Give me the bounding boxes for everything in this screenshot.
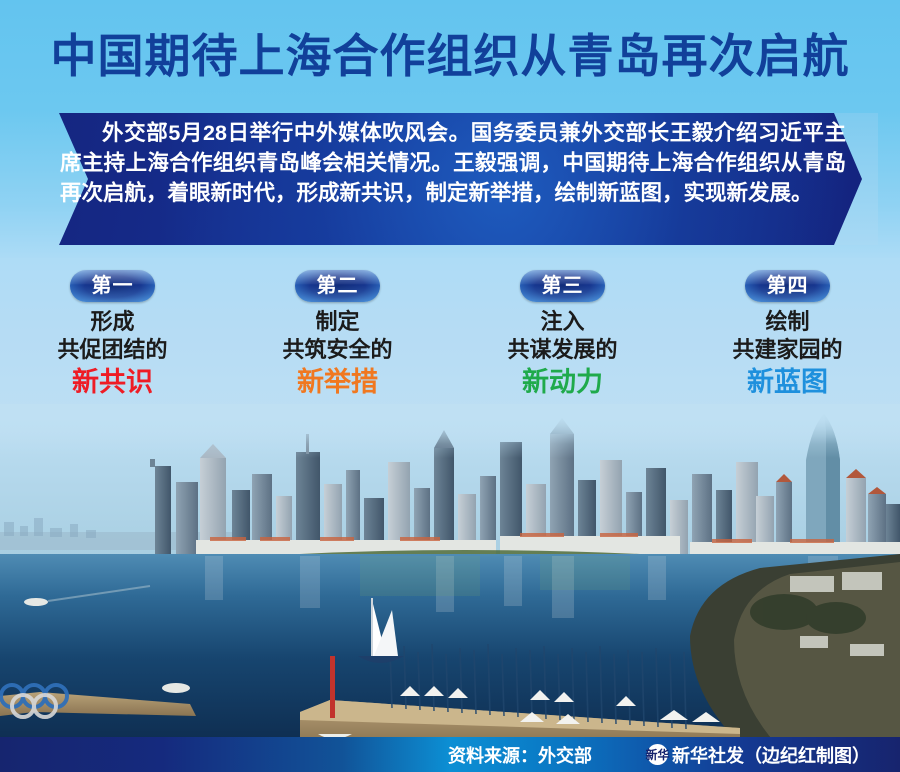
point-line2-4: 共建家园的 — [732, 336, 842, 364]
point-highlight-3: 新动力 — [522, 365, 603, 399]
key-points-row: 第一 形成 共促团结的 新共识 第二 制定 共筑安全的 新举措 第三 注入 共谋… — [0, 270, 900, 410]
point-line1-4: 绘制 — [765, 308, 809, 336]
key-point-4[interactable]: 第四 绘制 共建家园的 新蓝图 — [675, 270, 900, 410]
xinhua-logo-icon: 新华 — [647, 744, 668, 765]
point-line1-1: 形成 — [90, 308, 134, 336]
summary-banner-text: 外交部5月28日举行中外媒体吹风会。国务委员兼外交部长王毅介绍习近平主席主持上海… — [60, 118, 846, 242]
credit-group: 新华 新华社发（边纪红制图） — [647, 737, 870, 772]
summary-paragraph: 外交部5月28日举行中外媒体吹风会。国务委员兼外交部长王毅介绍习近平主席主持上海… — [60, 121, 846, 205]
source-label: 资料来源：外交部 — [448, 737, 592, 772]
point-line1-2: 制定 — [315, 308, 359, 336]
qingdao-skyline-photo — [0, 404, 900, 744]
point-line2-1: 共促团结的 — [57, 336, 167, 364]
page-title: 中国期待上海合作组织从青岛再次启航 — [0, 28, 900, 84]
point-badge-1: 第一 — [70, 270, 155, 302]
key-point-2[interactable]: 第二 制定 共筑安全的 新举措 — [225, 270, 450, 410]
key-point-1[interactable]: 第一 形成 共促团结的 新共识 — [0, 270, 225, 410]
point-badge-3: 第三 — [520, 270, 605, 302]
point-highlight-4: 新蓝图 — [747, 365, 828, 399]
point-badge-2: 第二 — [295, 270, 380, 302]
key-point-3[interactable]: 第三 注入 共谋发展的 新动力 — [450, 270, 675, 410]
credit-label: 新华社发（边纪红制图） — [672, 742, 870, 768]
point-highlight-2: 新举措 — [297, 365, 378, 399]
point-highlight-1: 新共识 — [72, 365, 153, 399]
point-badge-4: 第四 — [745, 270, 830, 302]
point-line1-3: 注入 — [540, 308, 584, 336]
point-line2-3: 共谋发展的 — [507, 336, 617, 364]
footer-bar: 资料来源：外交部 新华 新华社发（边纪红制图） — [0, 737, 900, 772]
infographic-poster: 中国期待上海合作组织从青岛再次启航 外交部5月28日举行中外媒体吹风会。国务委员… — [0, 0, 900, 772]
point-line2-2: 共筑安全的 — [282, 336, 392, 364]
